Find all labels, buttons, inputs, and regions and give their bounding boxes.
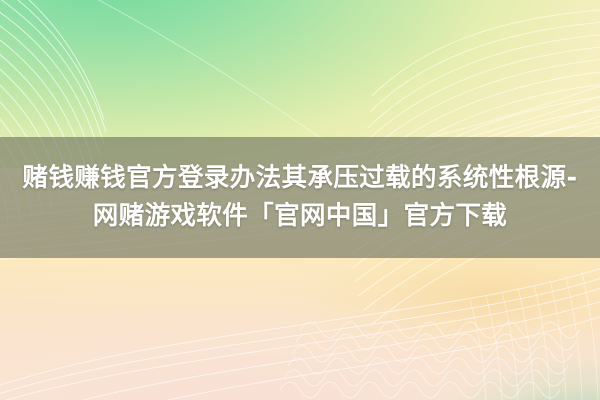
background-gradient-teal [318, 296, 600, 400]
caption-line-2: 网赌游戏软件「官网中国」官方下载 [93, 201, 507, 233]
promo-banner: 赌钱赚钱官方登录办法其承压过载的系统性根源- 网赌游戏软件「官网中国」官方下载 [0, 0, 600, 400]
caption-overlay-band: 赌钱赚钱官方登录办法其承压过载的系统性根源- 网赌游戏软件「官网中国」官方下载 [0, 137, 600, 258]
caption-line-1: 赌钱赚钱官方登录办法其承压过载的系统性根源- [23, 163, 578, 195]
